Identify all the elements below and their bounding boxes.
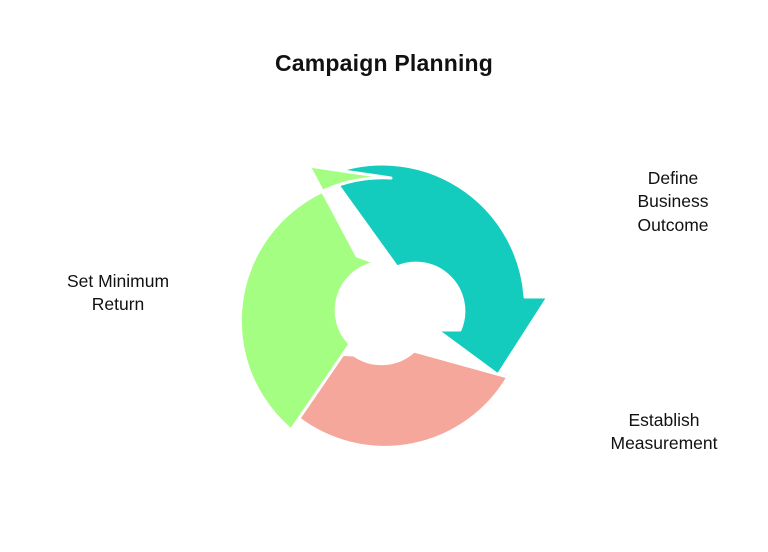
label-set-minimum-return: Set Minimum Return: [22, 270, 214, 317]
label-define-business-outcome: Define Business Outcome: [588, 167, 758, 237]
diagram-page: Campaign Planning Define Business Outcom…: [0, 0, 768, 552]
cycle-arrow-teal: [330, 164, 548, 375]
label-establish-measurement: Establish Measurement: [568, 409, 760, 456]
cycle-segment-define-business-outcome[interactable]: [330, 164, 548, 375]
